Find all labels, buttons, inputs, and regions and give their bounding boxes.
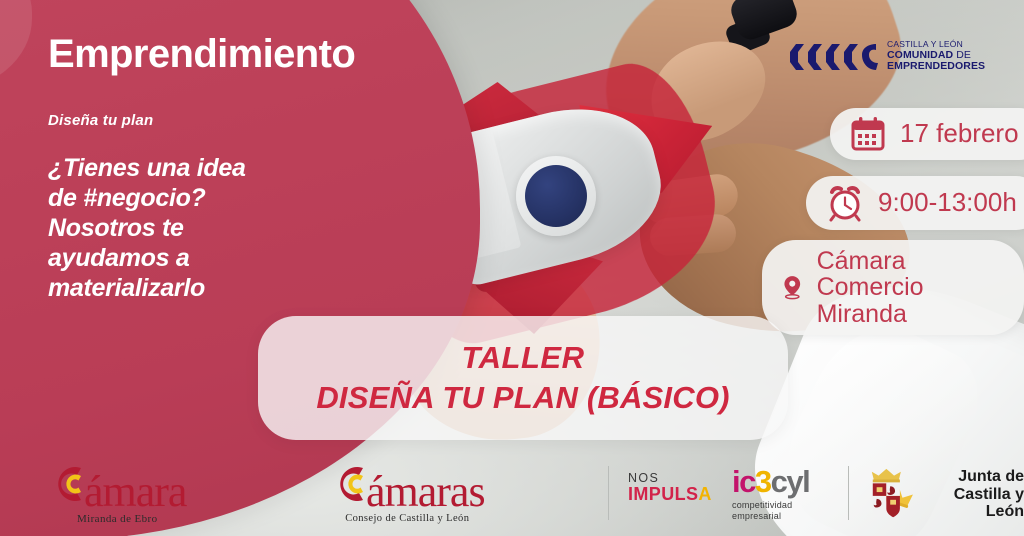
info-pill-location-label: Cámara Comercio Miranda (817, 248, 998, 327)
icecyl-tagline: competitividad empresarial (732, 500, 792, 523)
calendar-icon (850, 116, 886, 152)
icecyl-part-1: ic (732, 466, 755, 497)
ccce-mark-icon (790, 42, 878, 72)
panel-lead-text: ¿Tienes una idea de #negocio? Nosotros t… (48, 153, 378, 303)
junta-castilla-y-leon-logo: Junta de Castilla y León (866, 468, 1024, 521)
info-pill-date-label: 17 febrero (900, 120, 1019, 147)
nos-impulsa-line-2: IMPULSA (628, 485, 712, 503)
icecyl-part-2: 3 (755, 466, 771, 497)
camaras-sub: Consejo de Castilla y León (345, 513, 469, 524)
nos-impulsa-word: IMPULS (628, 484, 698, 504)
camaras-c-mark-icon (330, 462, 370, 506)
camaras-main: ámaras (366, 472, 485, 512)
nos-impulsa-logo: NOS IMPULSA (628, 472, 712, 503)
panel-highlight-blob (0, 0, 32, 92)
icecyl-wordmark: ic 3 cyl (732, 466, 809, 497)
lead-line-3: Nosotros te (48, 213, 378, 243)
ccce-line-2-light: DE (953, 49, 971, 61)
junta-line-1: Junta de (915, 468, 1024, 486)
lead-line-5: materializarlo (48, 273, 378, 303)
workshop-banner: TALLER DISEÑA TU PLAN (BÁSICO) (258, 316, 788, 440)
camara-miranda-sub: Miranda de Ebro (77, 513, 158, 525)
ccce-line-3: EMPRENDEDORES (887, 61, 985, 73)
camaras-wordmark: ámaras (330, 462, 485, 512)
ccce-logo-text: CASTILLA Y LEÓN COMUNIDAD DE EMPRENDEDOR… (887, 40, 985, 73)
left-panel-text: Emprendimiento Diseña tu plan ¿Tienes un… (48, 34, 378, 303)
event-poster: Emprendimiento Diseña tu plan ¿Tienes un… (0, 0, 1024, 536)
icecyl-tagline-1: competitividad (732, 500, 792, 511)
junta-line-2: Castilla y León (915, 486, 1024, 521)
map-pin-icon (782, 267, 803, 307)
logo-divider-2 (848, 466, 849, 520)
camara-miranda-logo: ámara Miranda de Ebro (48, 462, 186, 525)
rocket-window-glass (525, 165, 587, 227)
banner-line-2: DISEÑA TU PLAN (BÁSICO) (316, 380, 729, 416)
info-pill-date[interactable]: 17 febrero (830, 108, 1024, 160)
junta-logo-text: Junta de Castilla y León (915, 468, 1024, 521)
ccce-logo: CASTILLA Y LEÓN COMUNIDAD DE EMPRENDEDOR… (790, 40, 985, 73)
nos-impulsa-accent: A (698, 484, 711, 504)
logo-divider-1 (608, 466, 609, 520)
info-pill-time-label: 9:00-13:00h (878, 189, 1017, 216)
camara-c-mark-icon (48, 462, 88, 506)
banner-line-1: TALLER (462, 340, 585, 376)
lead-line-1: ¿Tienes una idea (48, 153, 378, 183)
lead-line-4: ayudamos a (48, 243, 378, 273)
ccce-line-2-bold: COMUNIDAD (887, 49, 953, 61)
panel-subtitle: Diseña tu plan (48, 112, 378, 129)
camara-miranda-wordmark: ámara (48, 462, 186, 512)
icecyl-part-3: cyl (771, 466, 810, 497)
footer-logo-strip: ámara Miranda de Ebro ámaras Consejo de … (0, 450, 1024, 536)
icecyl-tagline-2: empresarial (732, 511, 792, 522)
alarm-clock-icon (826, 184, 864, 222)
camaras-consejo-logo: ámaras Consejo de Castilla y León (330, 462, 485, 524)
lead-line-2: de #negocio? (48, 183, 378, 213)
icecyl-logo: ic 3 cyl competitividad empresarial (732, 466, 809, 523)
coat-of-arms-icon (866, 468, 907, 520)
page-title: Emprendimiento (48, 34, 378, 74)
info-pill-location[interactable]: Cámara Comercio Miranda (762, 240, 1024, 335)
info-pill-time[interactable]: 9:00-13:00h (806, 176, 1024, 230)
camara-miranda-main: ámara (84, 472, 186, 512)
